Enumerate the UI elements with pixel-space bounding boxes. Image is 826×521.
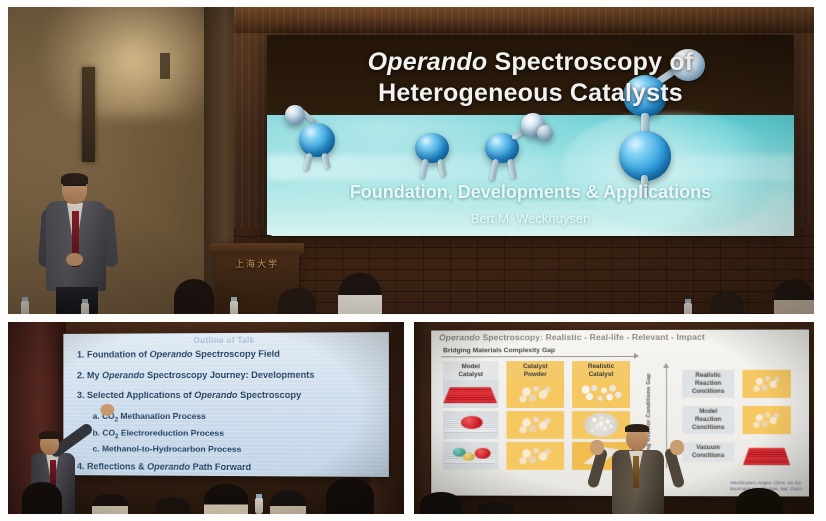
presenter-standing bbox=[40, 175, 114, 314]
powder-particles-graphic bbox=[513, 444, 557, 468]
audience-member bbox=[478, 502, 514, 514]
presenter-trousers bbox=[56, 287, 98, 314]
outline-subitem-b-formula: CO bbox=[102, 428, 115, 438]
bottom-left-photo-outline-slide: Outline of Talk 1. Foundation of Operand… bbox=[8, 322, 404, 514]
wall-decor-slit-small bbox=[160, 53, 170, 79]
column-header-model-catalyst: ModelCatalyst bbox=[443, 361, 498, 381]
molecule-bond bbox=[489, 159, 499, 182]
sample-image-model-catalyst-2 bbox=[443, 411, 498, 439]
photo-collage: Operando Spectroscopy of Heterogeneous C… bbox=[0, 0, 826, 521]
condition-label-vacuum: VacuumConditions bbox=[682, 442, 734, 462]
audience-member bbox=[326, 478, 374, 514]
outline-item-4-pre: Reflections & bbox=[87, 461, 147, 471]
column-header-realistic-catalyst: RealisticCatalyst bbox=[572, 361, 630, 381]
bottom-right-photo-materials-slide: Operando Spectroscopy: Realistic - Real-… bbox=[414, 322, 814, 514]
projected-outline-slide: Outline of Talk 1. Foundation of Operand… bbox=[63, 332, 389, 477]
outline-item-2: 2. My Operando Spectroscopy Journey: Dev… bbox=[77, 370, 381, 380]
outline-subitem-b-letter: b. bbox=[93, 427, 100, 437]
outline-subitem-b: b. CO2 Electroreduction Process bbox=[93, 428, 381, 441]
yellow-particle-graphic bbox=[463, 453, 475, 461]
molecule-model-3 bbox=[481, 119, 557, 189]
sample-image-catalyst-powder-1 bbox=[506, 380, 564, 408]
materials-slide-section-title: Bridging Materials Complexity Gap bbox=[443, 347, 555, 354]
outline-item-1: 1. Foundation of Operando Spectroscopy F… bbox=[77, 349, 381, 359]
audience-member bbox=[736, 488, 782, 514]
bottle-cap bbox=[22, 297, 28, 301]
audience-member bbox=[278, 288, 316, 314]
audience-member bbox=[204, 484, 248, 514]
water-bottle bbox=[684, 303, 692, 314]
outline-item-3-italic: Operando bbox=[194, 390, 237, 400]
projected-title-slide: Operando Spectroscopy of Heterogeneous C… bbox=[267, 35, 794, 236]
slide-title-operando-italic: Operando bbox=[368, 48, 488, 76]
outline-subitem-b-text: Electroreduction Process bbox=[119, 428, 224, 438]
audience-member bbox=[420, 492, 462, 514]
outline-subitem-c: c. Methanol-to-Hydrocarbon Process bbox=[93, 445, 381, 455]
condition-label-model: ModelReactionConditions bbox=[682, 406, 734, 434]
audience-member bbox=[774, 279, 814, 314]
slide-title-line-2: Heterogeneous Catalysts bbox=[267, 79, 794, 108]
outline-item-4-post: Path Forward bbox=[190, 462, 251, 472]
outline-subitem-a-letter: a. bbox=[93, 411, 100, 421]
outline-subitem-c-letter: c. bbox=[93, 444, 100, 454]
presenter-hair bbox=[625, 424, 649, 432]
powder-particles-graphic bbox=[748, 408, 785, 432]
sample-image-realistic-catalyst-1 bbox=[572, 380, 630, 408]
water-bottle bbox=[230, 301, 238, 314]
outline-item-2-post: Spectroscopy Journey: Developments bbox=[145, 369, 315, 379]
sample-image-model-conditions bbox=[742, 406, 790, 434]
column-header-catalyst-powder: CatalystPowder bbox=[506, 361, 564, 381]
outline-subitem-a: a. CO2 Methanation Process bbox=[93, 412, 381, 424]
red-particle-graphic bbox=[475, 448, 491, 459]
outline-item-3-number: 3. bbox=[77, 391, 84, 401]
molecule-bond bbox=[507, 159, 517, 180]
audience-member bbox=[710, 291, 744, 314]
molecule-atom-large bbox=[299, 123, 335, 157]
presenter-right-hand bbox=[670, 440, 684, 455]
audience-member bbox=[92, 494, 128, 514]
slide-subtitle: Foundation, Developments & Applications bbox=[267, 182, 794, 203]
red-particle-graphic bbox=[461, 416, 483, 429]
molecule-atom-small bbox=[537, 125, 553, 141]
molecule-atom-large bbox=[415, 133, 449, 163]
materials-slide-header-rest: Spectroscopy: Realistic - Real-life - Re… bbox=[480, 332, 705, 343]
outline-item-3-post: Spectroscopy bbox=[238, 390, 302, 400]
outline-item-2-number: 2. bbox=[77, 370, 84, 380]
outline-subitem-c-text: Methanol-to-Hydrocarbon Process bbox=[102, 444, 241, 454]
outline-item-4-italic: Operando bbox=[147, 462, 190, 472]
outline-item-2-pre: My bbox=[87, 370, 102, 380]
presenter-hands bbox=[66, 253, 83, 266]
slide-title-line-1-rest: Spectroscopy of bbox=[487, 48, 693, 76]
powder-particles-graphic bbox=[748, 372, 785, 396]
sample-image-realistic-conditions bbox=[742, 370, 790, 398]
outline-slide-header: Outline of Talk bbox=[63, 335, 389, 346]
outline-item-1-italic: Operando bbox=[150, 349, 193, 359]
molecule-bond bbox=[303, 153, 313, 172]
molecule-bond bbox=[419, 159, 428, 180]
slide-title-line-1: Operando Spectroscopy of bbox=[267, 48, 794, 77]
outline-item-3: 3. Selected Applications of Operando Spe… bbox=[77, 391, 381, 400]
podium-university-name: 上海大学 bbox=[215, 257, 299, 270]
slide-title-line-2-rest: Heterogeneous Catalysts bbox=[378, 79, 683, 107]
sample-image-model-catalyst-3 bbox=[443, 442, 498, 470]
molecule-bond bbox=[321, 153, 331, 170]
presenter-hair bbox=[61, 173, 88, 184]
presenter-necktie bbox=[633, 456, 639, 488]
ceiling-light-glow bbox=[36, 7, 226, 117]
red-lattice-graphic bbox=[743, 448, 791, 465]
molecule-atom-small bbox=[285, 105, 305, 125]
molecule-bond bbox=[437, 159, 447, 178]
bottle-cap bbox=[231, 297, 237, 301]
outline-item-1-post: Spectroscopy Field bbox=[193, 349, 280, 359]
materials-slide-header: Operando Spectroscopy: Realistic - Real-… bbox=[431, 332, 809, 343]
sample-image-catalyst-powder-3 bbox=[506, 442, 564, 470]
water-bottle bbox=[21, 301, 29, 314]
audience-member bbox=[22, 482, 62, 514]
top-photo-lecture-hall: Operando Spectroscopy of Heterogeneous C… bbox=[8, 7, 814, 314]
molecule-atom-large bbox=[619, 131, 671, 181]
powder-particles-graphic bbox=[513, 382, 557, 405]
red-lattice-graphic bbox=[444, 387, 498, 403]
outline-item-2-italic: Operando bbox=[102, 370, 145, 380]
eyeglasses-icon bbox=[63, 184, 86, 189]
audience-member bbox=[338, 273, 382, 314]
water-bottle bbox=[81, 303, 89, 314]
water-bottle bbox=[255, 498, 263, 514]
outline-subitem-a-text: Methanation Process bbox=[118, 411, 206, 421]
outline-item-4: 4. Reflections & Operando Path Forward bbox=[77, 462, 381, 473]
molecule-model-1 bbox=[281, 109, 351, 171]
audience-member bbox=[270, 490, 306, 514]
sample-image-vacuum-conditions bbox=[742, 440, 790, 470]
outline-item-1-pre: Foundation of bbox=[87, 349, 150, 359]
presenter-hair bbox=[39, 431, 60, 439]
presenter-left-hand bbox=[590, 440, 604, 455]
pellet-particles-graphic bbox=[577, 383, 626, 405]
complexity-gap-arrow-icon bbox=[441, 356, 638, 357]
sample-image-catalyst-powder-2 bbox=[506, 411, 564, 439]
audience-member bbox=[156, 497, 190, 514]
bottle-cap bbox=[256, 494, 262, 498]
powder-particles-graphic bbox=[513, 413, 557, 436]
presenter-gesturing-both-hands bbox=[588, 418, 684, 514]
bottle-cap bbox=[685, 299, 691, 303]
materials-slide-header-operando-italic: Operando bbox=[439, 332, 480, 342]
condition-label-realistic: RealisticReactionConditions bbox=[682, 370, 734, 398]
presenter-pointing-hand bbox=[100, 404, 114, 416]
wall-decor-slit bbox=[82, 67, 95, 162]
slide-author-name: Bert M. Weckhuysen bbox=[267, 211, 794, 226]
molecule-model-4 bbox=[607, 57, 717, 197]
outline-list: 1. Foundation of Operando Spectroscopy F… bbox=[77, 349, 381, 477]
outline-item-1-number: 1. bbox=[77, 350, 84, 360]
audience-member bbox=[174, 279, 214, 314]
left-wall bbox=[414, 322, 430, 514]
molecule-model-2 bbox=[407, 133, 467, 187]
bottle-cap bbox=[82, 299, 88, 303]
outline-item-3-pre: Selected Applications of bbox=[87, 390, 194, 400]
sample-image-model-catalyst-1 bbox=[443, 380, 498, 408]
